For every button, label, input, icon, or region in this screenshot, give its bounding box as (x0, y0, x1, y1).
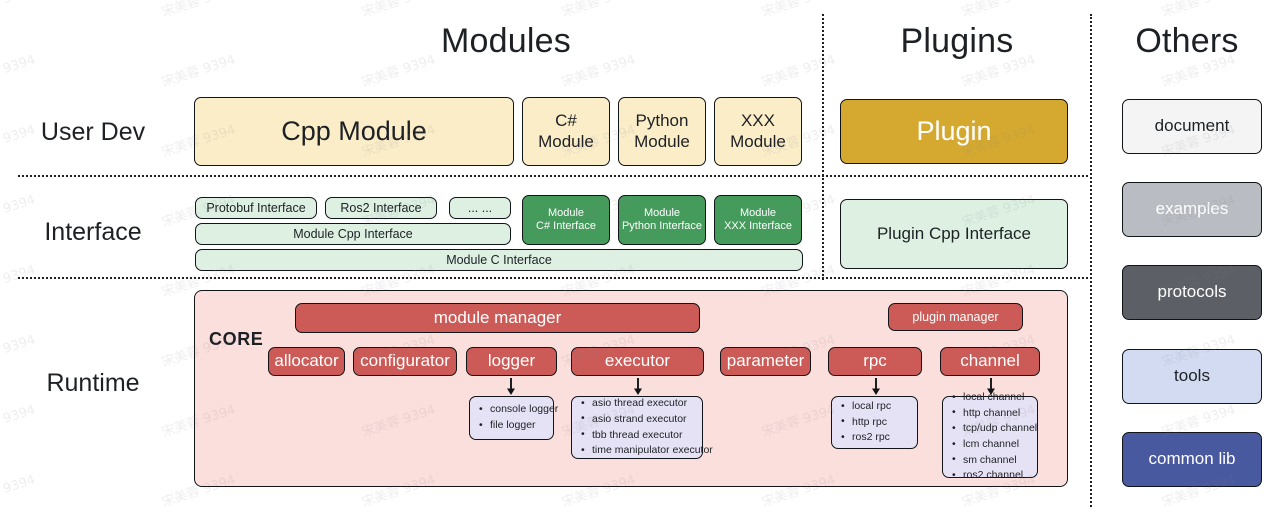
others-item-protocols[interactable]: protocols (1122, 265, 1262, 320)
logger-items-list: console logger file logger (469, 396, 554, 440)
others-item-examples[interactable]: examples (1122, 182, 1262, 237)
configurator-box[interactable]: configurator (353, 347, 457, 376)
xxx-module-box[interactable]: XXX Module (714, 97, 802, 166)
core-label: CORE (209, 329, 279, 350)
list-item: ros2 rpc (852, 430, 909, 446)
rpc-items-list: local rpc http rpc ros2 rpc (831, 396, 918, 449)
cpp-module-box[interactable]: Cpp Module (194, 97, 514, 166)
divider-plugins-others (1090, 14, 1092, 507)
channel-box[interactable]: channel (940, 347, 1040, 376)
plugin-box[interactable]: Plugin (840, 99, 1068, 164)
python-module-box[interactable]: Python Module (618, 97, 706, 166)
row-label-interface: Interface (8, 218, 178, 247)
list-item: tcp/udp channel (963, 421, 1029, 437)
plugin-manager-box[interactable]: plugin manager (888, 303, 1023, 331)
parameter-box[interactable]: parameter (720, 347, 811, 376)
watermark-text: 宋美蓉 9394 (159, 0, 237, 20)
csharp-module-box[interactable]: C# Module (522, 97, 610, 166)
logger-arrow-icon (503, 378, 519, 395)
executor-items-list: asio thread executor asio strand executo… (571, 396, 703, 459)
module-xxx-interface-box[interactable]: Module XXX Interface (714, 195, 802, 245)
column-title-others: Others (1096, 22, 1278, 61)
list-item: tbb thread executor (592, 428, 694, 444)
rpc-arrow-icon (868, 378, 884, 395)
list-item: asio thread executor (592, 396, 694, 412)
ros2-interface-box[interactable]: Ros2 Interface (325, 197, 437, 219)
watermark-text: 宋美蓉 9394 (0, 329, 37, 371)
more-interface-box[interactable]: ... ... (449, 197, 511, 219)
list-item: http rpc (852, 415, 909, 431)
list-item: sm channel (963, 453, 1029, 469)
logger-box[interactable]: logger (466, 347, 557, 376)
row-label-runtime: Runtime (8, 369, 178, 398)
column-title-modules: Modules (190, 22, 822, 61)
executor-box[interactable]: executor (571, 347, 704, 376)
module-csharp-interface-box[interactable]: Module C# Interface (522, 195, 610, 245)
channel-items-list: local channel http channel tcp/udp chann… (942, 396, 1038, 478)
plugin-cpp-interface-box[interactable]: Plugin Cpp Interface (840, 199, 1068, 269)
others-item-common-lib[interactable]: common lib (1122, 432, 1262, 487)
module-cpp-interface-box[interactable]: Module Cpp Interface (195, 223, 511, 245)
watermark-text: 宋美蓉 9394 (0, 49, 37, 91)
list-item: local channel (963, 390, 1029, 406)
watermark-text: 宋美蓉 9394 (959, 0, 1037, 20)
watermark-text: 宋美蓉 9394 (0, 259, 37, 301)
others-item-tools[interactable]: tools (1122, 349, 1262, 404)
module-python-interface-box[interactable]: Module Python Interface (618, 195, 706, 245)
list-item: ros2 channel (963, 468, 1029, 484)
allocator-box[interactable]: allocator (268, 347, 345, 376)
list-item: time manipulator executor (592, 443, 694, 459)
executor-arrow-icon (630, 378, 646, 395)
column-title-plugins: Plugins (826, 22, 1088, 61)
list-item: http channel (963, 406, 1029, 422)
watermark-text: 宋美蓉 9394 (0, 0, 37, 20)
watermark-text: 宋美蓉 9394 (559, 0, 637, 20)
list-item: local rpc (852, 399, 909, 415)
watermark-text: 宋美蓉 9394 (359, 0, 437, 20)
watermark-text: 宋美蓉 9394 (0, 399, 37, 441)
module-manager-box[interactable]: module manager (295, 303, 700, 333)
watermark-text: 宋美蓉 9394 (759, 0, 837, 20)
module-c-interface-box[interactable]: Module C Interface (195, 249, 803, 271)
watermark-text: 宋美蓉 9394 (0, 469, 37, 511)
rpc-box[interactable]: rpc (828, 347, 922, 376)
divider-modules-plugins (822, 14, 824, 280)
protobuf-interface-box[interactable]: Protobuf Interface (195, 197, 317, 219)
architecture-diagram: Modules Plugins Others User Dev Interfac… (0, 0, 1280, 519)
watermark-text: 宋美蓉 9394 (1159, 0, 1237, 20)
list-item: lcm channel (963, 437, 1029, 453)
divider-interface-runtime (18, 277, 1088, 279)
others-item-document[interactable]: document (1122, 99, 1262, 154)
list-item: console logger (490, 402, 545, 418)
list-item: file logger (490, 418, 545, 434)
row-label-user-dev: User Dev (8, 118, 178, 147)
divider-user-dev-interface (18, 175, 1088, 177)
list-item: asio strand executor (592, 412, 694, 428)
